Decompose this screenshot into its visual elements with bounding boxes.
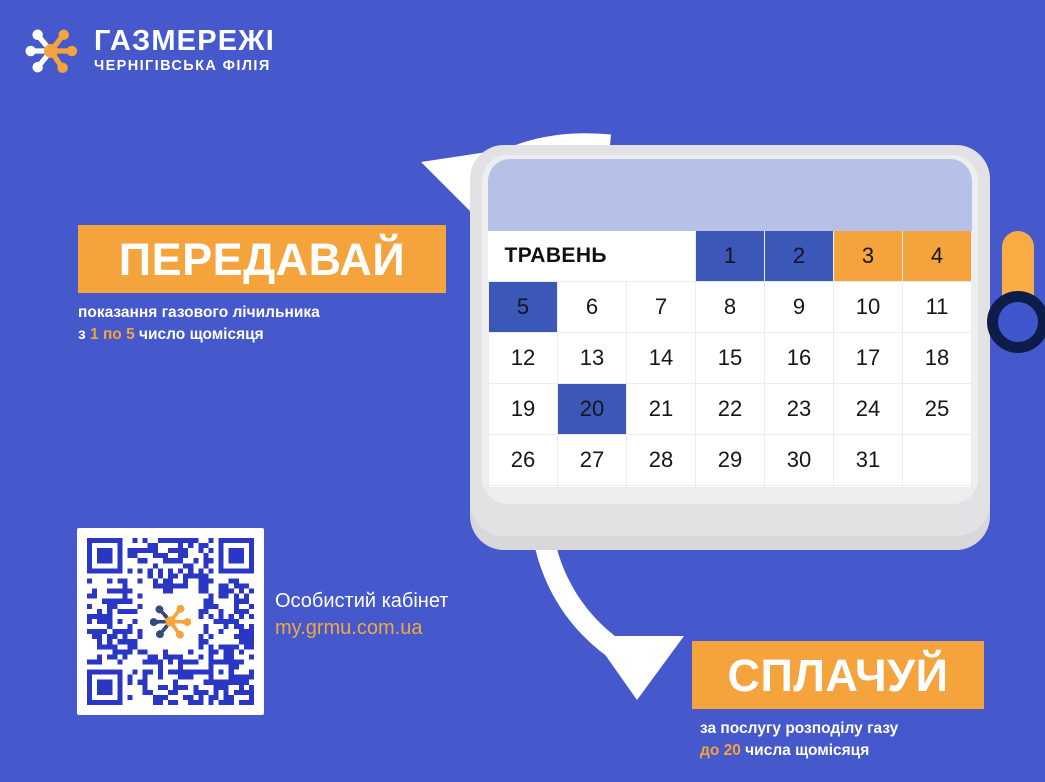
calendar-day-cell[interactable]: 10 — [834, 281, 903, 332]
calendar-day-cell[interactable]: 25 — [903, 383, 972, 434]
calendar-month-label: ТРАВЕНЬ — [489, 231, 696, 281]
calendar-day-cell[interactable]: 16 — [765, 332, 834, 383]
calendar-day-cell[interactable]: 24 — [834, 383, 903, 434]
calendar-empty-cell — [489, 486, 558, 488]
brand-text: ГАЗМЕРЕЖІ ЧЕРНІГІВСЬКА ФІЛІЯ — [94, 27, 275, 76]
transmit-caption: показання газового лічильника з 1 по 5 ч… — [78, 302, 478, 347]
calendar-grid: ТРАВЕНЬ123456789101112131415161718192021… — [488, 231, 972, 488]
calendar-day-cell[interactable]: 18 — [903, 332, 972, 383]
transmit-caption-line2: з 1 по 5 число щомісяця — [78, 324, 478, 346]
calendar-row — [489, 486, 972, 488]
calendar-empty-cell — [903, 434, 972, 485]
calendar-ring-inner-1 — [998, 302, 1038, 342]
account-label: Особистий кабінет — [275, 588, 448, 615]
pay-caption-suffix: числа щомісяця — [741, 742, 869, 759]
calendar-empty-cell — [903, 486, 972, 488]
calendar-row: 19202122232425 — [489, 383, 972, 434]
transmit-caption-highlight: 1 по 5 — [90, 326, 135, 343]
calendar-day-cell[interactable]: 28 — [627, 434, 696, 485]
pay-banner: СПЛАЧУЙ — [692, 641, 984, 709]
calendar-empty-cell — [834, 486, 903, 488]
brand-title: ГАЗМЕРЕЖІ — [94, 27, 275, 57]
calendar-day-cell[interactable]: 15 — [696, 332, 765, 383]
calendar-day-cell[interactable]: 22 — [696, 383, 765, 434]
qr-block[interactable] — [77, 528, 264, 715]
qr-code-canvas — [87, 538, 254, 705]
calendar-grid-container: ТРАВЕНЬ123456789101112131415161718192021… — [488, 231, 972, 488]
pay-caption: за послугу розподілу газу до 20 числа що… — [700, 718, 1040, 763]
calendar-day-cell[interactable]: 8 — [696, 281, 765, 332]
pay-banner-label: СПЛАЧУЙ — [728, 653, 949, 698]
calendar-day-cell[interactable]: 4 — [903, 231, 972, 281]
calendar-empty-cell — [627, 486, 696, 488]
calendar-day-cell[interactable]: 6 — [558, 281, 627, 332]
calendar-day-cell[interactable]: 12 — [489, 332, 558, 383]
pay-caption-highlight: до 20 — [700, 742, 741, 759]
transmit-caption-line1: показання газового лічильника — [78, 302, 478, 324]
transmit-banner-label: ПЕРЕДАВАЙ — [119, 237, 406, 282]
pay-caption-line2: до 20 числа щомісяця — [700, 740, 1040, 762]
account-text-block: Особистий кабінет my.grmu.com.ua — [275, 588, 448, 642]
arrow-to-pay-head — [592, 636, 684, 700]
calendar-empty-cell — [558, 486, 627, 488]
calendar-frame: ТРАВЕНЬ123456789101112131415161718192021… — [470, 145, 990, 550]
calendar-ring-hole-1 — [987, 291, 1045, 353]
calendar-day-cell[interactable]: 26 — [489, 434, 558, 485]
calendar-empty-cell — [765, 486, 834, 488]
calendar-day-cell[interactable]: 9 — [765, 281, 834, 332]
calendar-row: ТРАВЕНЬ1234 — [489, 231, 972, 281]
calendar-day-cell[interactable]: 31 — [834, 434, 903, 485]
calendar-ring-1 — [987, 291, 1045, 353]
calendar-row: 567891011 — [489, 281, 972, 332]
qr-center-logo-icon — [148, 599, 194, 645]
pay-caption-line1: за послугу розподілу газу — [700, 718, 1040, 740]
calendar-day-cell[interactable]: 14 — [627, 332, 696, 383]
calendar-day-cell[interactable]: 3 — [834, 231, 903, 281]
calendar-day-cell[interactable]: 20 — [558, 383, 627, 434]
transmit-caption-prefix: з — [78, 326, 90, 343]
calendar-day-cell[interactable]: 27 — [558, 434, 627, 485]
calendar-empty-cell — [696, 486, 765, 488]
calendar-day-cell[interactable]: 2 — [765, 231, 834, 281]
calendar-day-cell[interactable]: 11 — [903, 281, 972, 332]
calendar-day-cell[interactable]: 30 — [765, 434, 834, 485]
transmit-caption-suffix: число щомісяця — [135, 326, 264, 343]
qr-code-icon[interactable] — [77, 528, 264, 715]
transmit-banner: ПЕРЕДАВАЙ — [78, 225, 446, 293]
calendar-day-cell[interactable]: 23 — [765, 383, 834, 434]
calendar-day-cell[interactable]: 13 — [558, 332, 627, 383]
calendar-day-cell[interactable]: 1 — [696, 231, 765, 281]
calendar-day-cell[interactable]: 7 — [627, 281, 696, 332]
calendar-day-cell[interactable]: 19 — [489, 383, 558, 434]
calendar-row: 12131415161718 — [489, 332, 972, 383]
calendar-row: 262728293031 — [489, 434, 972, 485]
molecule-node-icon — [22, 22, 80, 80]
brand-logo: ГАЗМЕРЕЖІ ЧЕРНІГІВСЬКА ФІЛІЯ — [22, 22, 275, 80]
account-url[interactable]: my.grmu.com.ua — [275, 615, 448, 642]
calendar-widget: ТРАВЕНЬ123456789101112131415161718192021… — [470, 145, 990, 550]
brand-subtitle: ЧЕРНІГІВСЬКА ФІЛІЯ — [94, 59, 275, 75]
calendar-day-cell[interactable]: 29 — [696, 434, 765, 485]
calendar-day-cell[interactable]: 5 — [489, 281, 558, 332]
calendar-day-cell[interactable]: 17 — [834, 332, 903, 383]
calendar-day-cell[interactable]: 21 — [627, 383, 696, 434]
